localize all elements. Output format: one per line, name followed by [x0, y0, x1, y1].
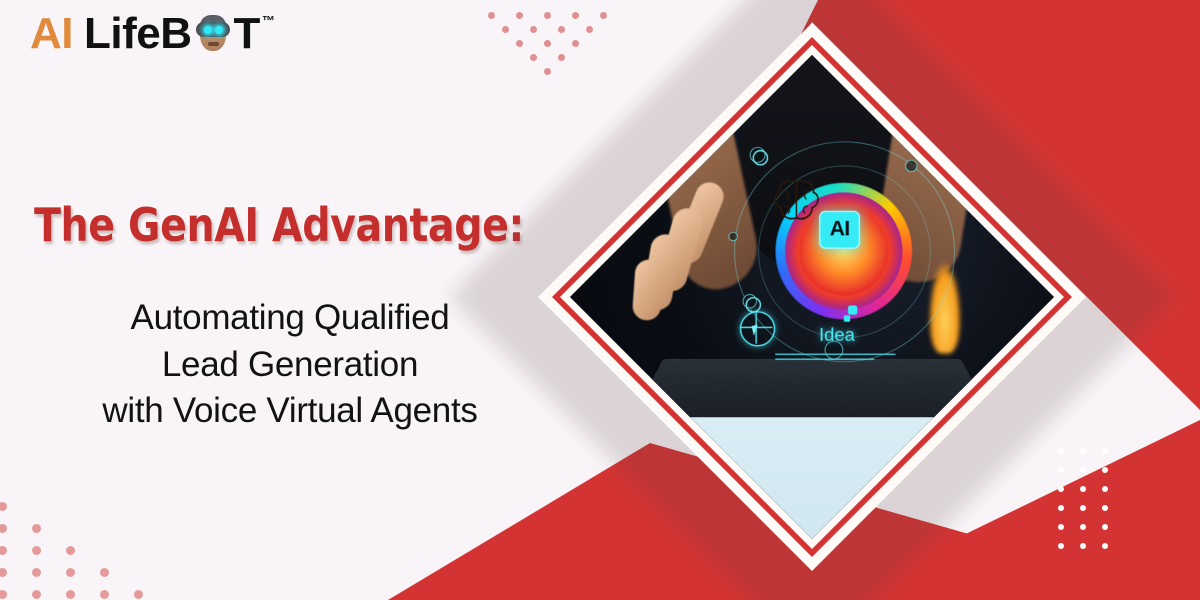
- brand-logo[interactable]: AI LifeB T ™: [30, 8, 274, 60]
- hologram-hud: AI Idea: [727, 134, 960, 367]
- logo-ai-text: AI: [30, 12, 73, 56]
- gear-icon: [753, 150, 769, 166]
- trademark-symbol: ™: [262, 14, 275, 27]
- idea-label: Idea: [819, 324, 855, 346]
- subtitle-line-3: with Voice Virtual Agents: [0, 388, 580, 435]
- dot-pattern-bottom-left: [0, 500, 126, 600]
- hero-image-frame: AI Idea: [538, 23, 1086, 571]
- robot-head-icon: [193, 12, 233, 56]
- page-title: The GenAI Advantage:: [34, 198, 524, 252]
- logo-t-text: T: [234, 12, 260, 56]
- banner-canvas: AI LifeB T ™ The GenAI Advantage: Automa…: [0, 0, 1200, 600]
- ai-badge: AI: [819, 211, 860, 249]
- subtitle-line-2: Lead Generation: [0, 342, 580, 389]
- brain-icon: [770, 175, 824, 224]
- logo-life-text: LifeB: [84, 12, 192, 56]
